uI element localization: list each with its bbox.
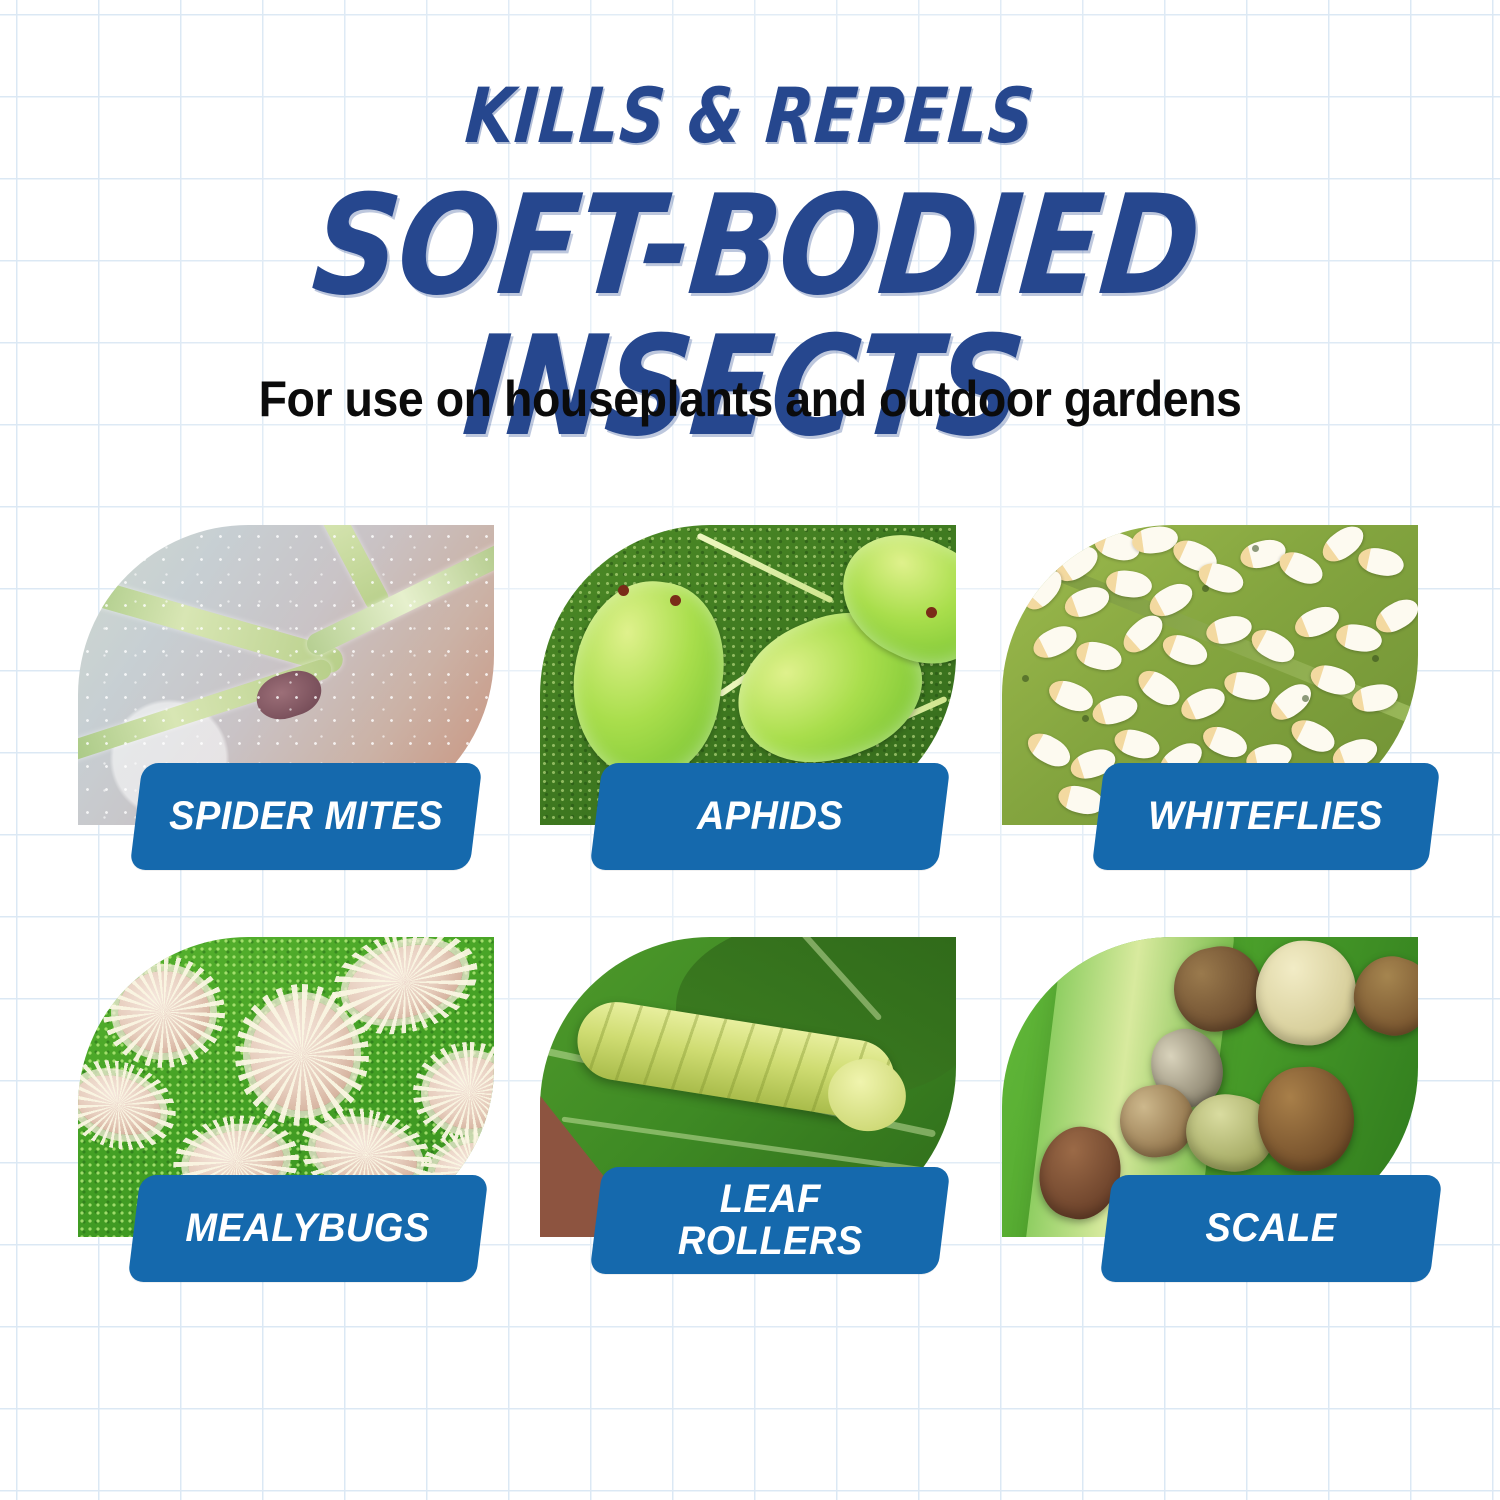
pest-card-leaf-rollers[interactable]: LEAF ROLLERS [540,937,956,1237]
leaf-speck [1202,585,1209,592]
whitefly-sprite [1199,721,1251,762]
whitefly-sprite [1029,620,1082,664]
pest-label-text: SCALE [1194,1208,1348,1250]
whitefly-sprite [1222,669,1272,704]
whitefly-sprite [1195,559,1247,598]
pest-label-text: APHIDS [685,796,854,838]
whitefly-sprite [1356,545,1406,580]
whitefly-sprite [1133,664,1186,711]
infographic-page: KILLS & REPELS SOFT-BODIED INSECTS For u… [0,0,1500,1500]
leaf-speck [1032,565,1039,572]
pest-card-grid: SPIDER MITES APHIDS [78,525,1422,1349]
pest-label-text: MEALYBUGS [174,1208,441,1250]
pest-label-badge-leaf-rollers: LEAF ROLLERS [589,1167,950,1274]
pest-card-whiteflies[interactable]: WHITEFLIES [1002,525,1418,825]
whitefly-sprite [1177,683,1230,725]
whitefly-sprite [1265,678,1317,727]
whitefly-sprite [1023,727,1076,773]
pest-label-badge-scale: SCALE [1099,1175,1442,1282]
pest-label-badge-mealybugs: MEALYBUGS [127,1175,488,1282]
leaf-speck [1022,675,1029,682]
whitefly-sprite [1287,714,1340,758]
pest-card-spider-mites[interactable]: SPIDER MITES [78,525,494,825]
subtitle-text: For use on houseplants and outdoor garde… [53,370,1448,428]
leaf-speck [1082,715,1089,722]
whitefly-sprite [1045,675,1097,716]
whitefly-sprite [1111,725,1162,763]
pest-card-aphids[interactable]: APHIDS [540,525,956,825]
pest-label-badge-aphids: APHIDS [589,763,950,870]
pest-label-badge-spider-mites: SPIDER MITES [129,763,482,870]
pest-label-text: LEAF ROLLERS [666,1179,874,1262]
kicker-text: KILLS & REPELS [132,78,1367,154]
leaf-speck [1252,545,1259,552]
pest-card-scale[interactable]: SCALE [1002,937,1418,1237]
leaf-speck [1372,655,1379,662]
leaf-speck [1302,695,1309,702]
whitefly-sprite [1089,691,1140,729]
whitefly-sprite [1074,638,1125,674]
pest-label-text: SPIDER MITES [158,796,455,838]
pest-card-mealybugs[interactable]: MEALYBUGS [78,937,494,1237]
pest-row: MEALYBUGS LEAF ROLLERS [78,937,1422,1349]
pest-label-badge-whiteflies: WHITEFLIES [1091,763,1440,870]
pest-row: SPIDER MITES APHIDS [78,525,1422,937]
pest-label-text: WHITEFLIES [1137,796,1395,838]
